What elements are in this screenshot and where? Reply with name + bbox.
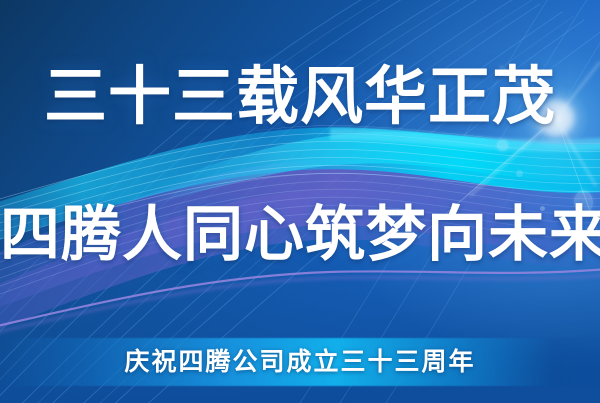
- celebration-poster: 三十三载风华正茂 四腾人同心筑梦向未来 庆祝四腾公司成立三十三周年: [0, 0, 600, 403]
- title-line-1: 三十三载风华正茂: [0, 60, 600, 134]
- subtitle-text: 庆祝四腾公司成立三十三周年: [0, 340, 600, 384]
- title-line-2: 四腾人同心筑梦向未来: [0, 200, 600, 270]
